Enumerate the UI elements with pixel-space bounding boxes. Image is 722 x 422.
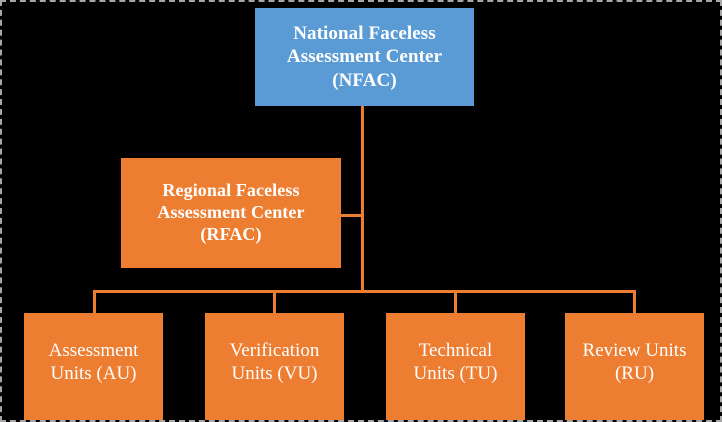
node-nfac-line2: Assessment Center [287,46,442,67]
connector-nfac-trunk [361,105,364,292]
node-rfac-line1: Regional Faceless [162,180,299,200]
node-review-units[interactable]: Review Units(RU) [565,313,704,420]
node-rfac[interactable]: Regional FacelessAssessment Center(RFAC) [121,158,341,268]
node-nfac-label: National FacelessAssessment Center(NFAC) [255,22,474,92]
node-verification-units[interactable]: VerificationUnits (VU) [205,313,344,420]
connector-rfac-branch [340,214,363,217]
connector-drop-tu [454,290,457,314]
node-assessment-units-label: AssessmentUnits (AU) [24,339,163,385]
node-ru-line1: Review Units [583,340,687,361]
node-assessment-units[interactable]: AssessmentUnits (AU) [24,313,163,420]
connector-drop-ru [633,290,636,314]
node-au-line1: Assessment [49,340,139,361]
node-vu-line2: Units (VU) [231,363,317,384]
node-technical-units-label: TechnicalUnits (TU) [386,339,525,385]
node-rfac-line2: Assessment Center [157,202,304,222]
node-nfac[interactable]: National FacelessAssessment Center(NFAC) [255,8,474,106]
connector-distribution-bar [93,290,636,293]
node-tu-line1: Technical [419,340,493,361]
node-nfac-line1: National Faceless [293,23,436,44]
node-au-line2: Units (AU) [50,363,136,384]
node-tu-line2: Units (TU) [414,363,498,384]
node-rfac-line3: (RFAC) [200,224,261,244]
node-review-units-label: Review Units(RU) [565,339,704,385]
node-verification-units-label: VerificationUnits (VU) [205,339,344,385]
connector-drop-au [93,290,96,314]
node-rfac-label: Regional FacelessAssessment Center(RFAC) [121,180,341,246]
node-technical-units[interactable]: TechnicalUnits (TU) [386,313,525,420]
org-chart-diagram: National FacelessAssessment Center(NFAC)… [0,0,722,422]
node-nfac-line3: (NFAC) [332,70,397,91]
node-vu-line1: Verification [230,340,320,361]
node-ru-line2: (RU) [615,363,654,384]
connector-drop-vu [273,290,276,314]
